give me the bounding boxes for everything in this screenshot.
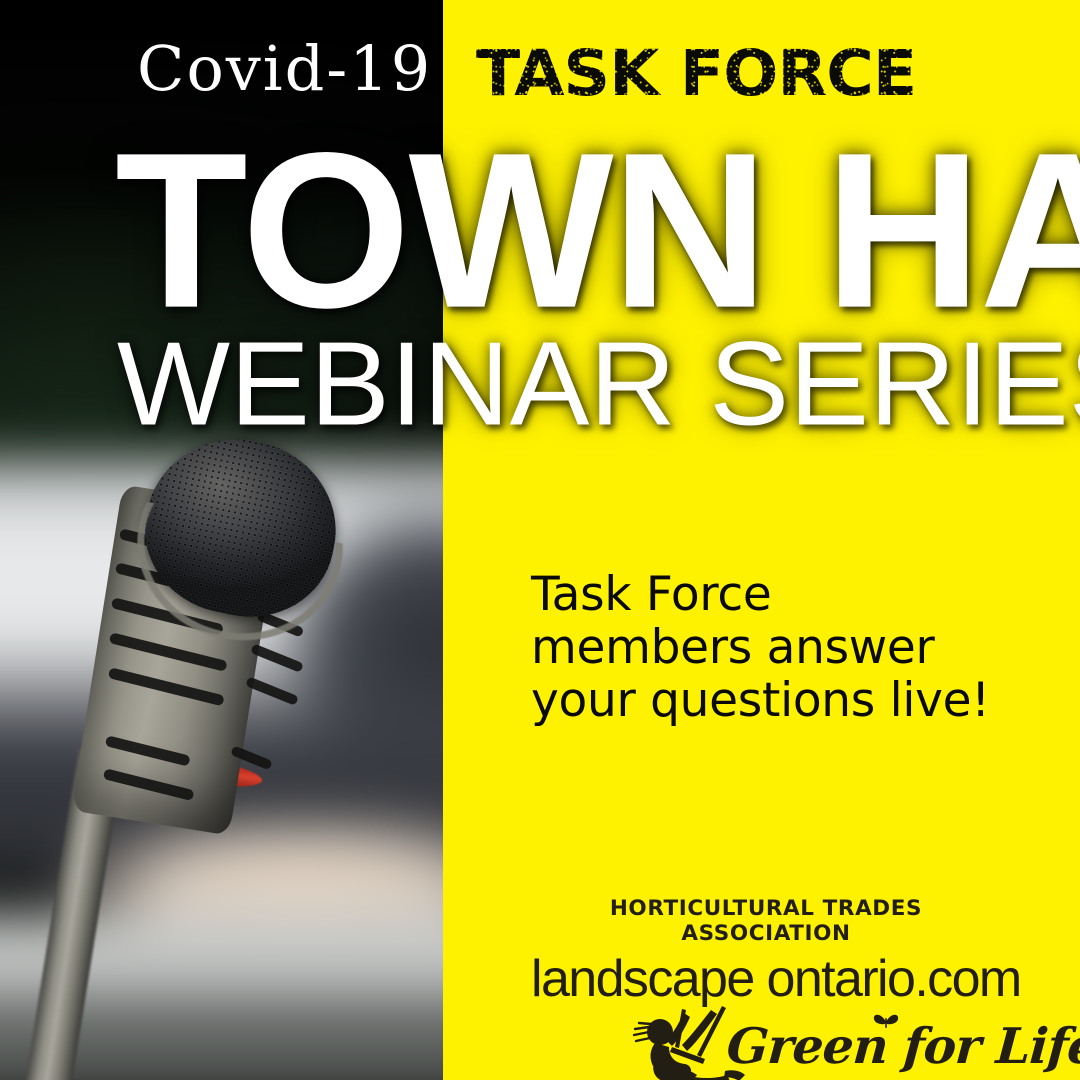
body-copy-line-1: Task Force (531, 568, 1001, 621)
eyebrow-covid19: Covid-19 (137, 38, 432, 100)
body-copy-line-2: members answer (531, 621, 1001, 674)
logo-wordmark: landscape ontario.com (531, 949, 1001, 1009)
photo-dark-overlay (0, 0, 443, 1080)
landscape-ontario-logo: HORTICULTURAL TRADES ASSOCIATION landsca… (531, 896, 1001, 1080)
logo-tagline: Green for Life! (725, 1017, 1080, 1075)
microphone-photo-panel (0, 0, 443, 1080)
logo-tagline-row: Green for Life! (531, 1007, 1001, 1080)
body-copy-line-3: your questions live! (531, 674, 1001, 727)
poster: Covid-19 TASK FORCE TOWN HALL WEBINAR SE… (0, 0, 1080, 1080)
body-copy: Task Force members answer your questions… (531, 568, 1001, 727)
eyebrow-task-force-label: TASK FORCE (476, 37, 916, 110)
butterfly-icon (873, 1011, 899, 1031)
logo-association-line: HORTICULTURAL TRADES ASSOCIATION (531, 896, 1001, 946)
eyebrow-task-force: TASK FORCE (476, 42, 916, 105)
